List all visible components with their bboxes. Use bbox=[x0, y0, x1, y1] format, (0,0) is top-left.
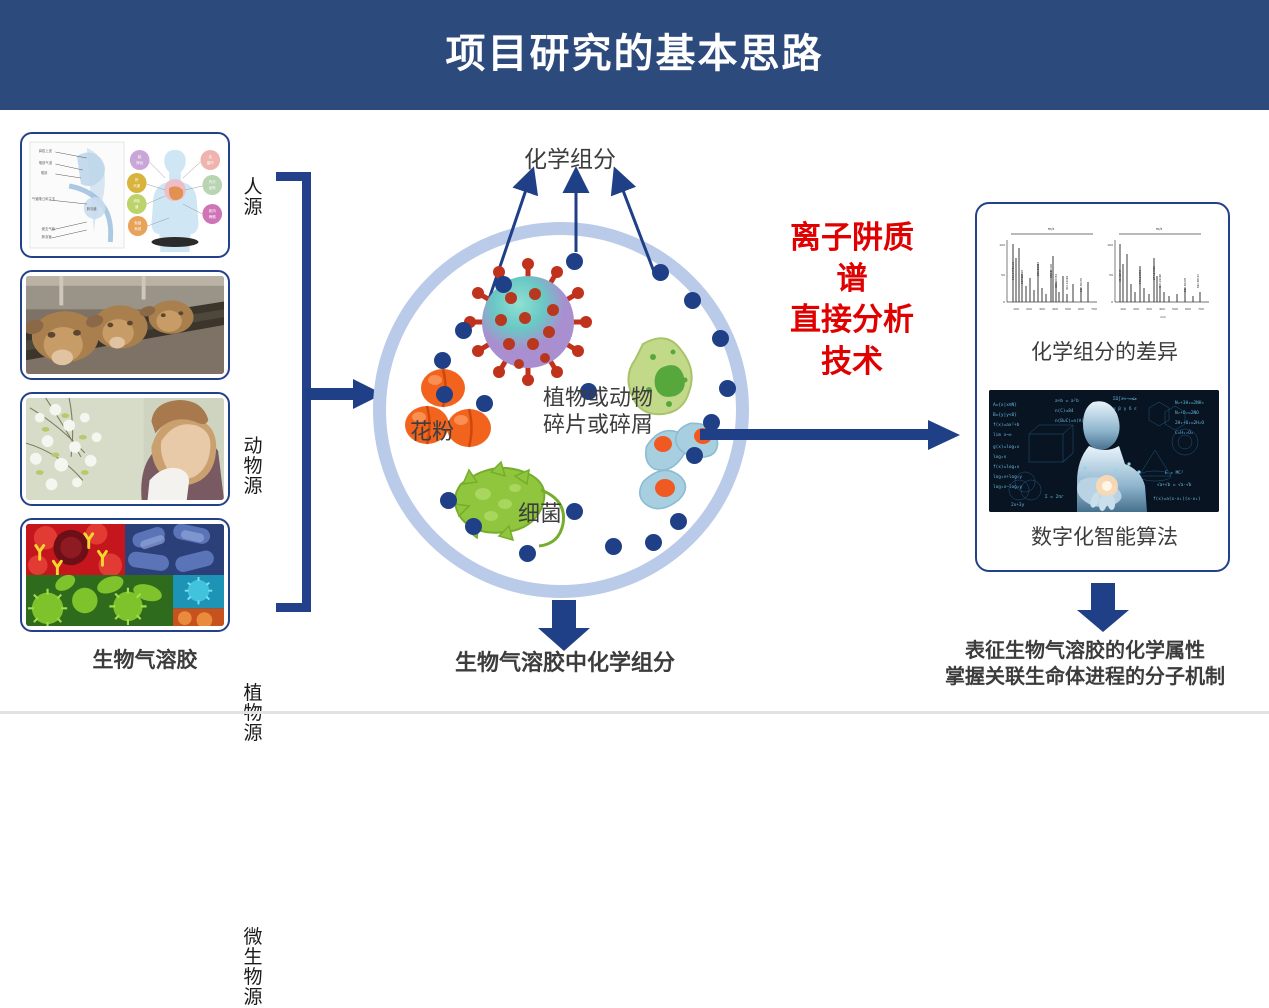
ai-illustration: A={x|x∈N}B={y|y<8} f(x)=ax²+blim x→∞ g(x… bbox=[989, 390, 1219, 512]
svg-text:f(x)=ax²+b: f(x)=ax²+b bbox=[993, 422, 1020, 428]
svg-text:255.23384: 255.23384 bbox=[1036, 262, 1040, 276]
chemical-dot bbox=[455, 322, 472, 339]
arrow-results-to-conclusion bbox=[1075, 583, 1131, 633]
svg-text:ΣΩ∫∂∞→≈≤≥: ΣΩ∫∂∞→≈≤≥ bbox=[1113, 396, 1137, 402]
human-body-anatomy-diagram: 鼻腔上皮咽部气道 喉部气管隆凸和主支 细支气管肺泡管 肺泡囊 bbox=[26, 138, 224, 252]
results-caption-spectra: 化学组分的差异 bbox=[977, 336, 1232, 366]
center-bottom-caption: 生物气溶胶中化学组分 bbox=[400, 645, 730, 677]
slide-canvas: 项目研究的基本思路 bbox=[0, 0, 1269, 714]
technique-line1: 离子阱质 bbox=[790, 220, 914, 256]
label-bacteria: 细菌 bbox=[500, 502, 580, 529]
svg-text:100: 100 bbox=[1107, 243, 1113, 247]
svg-text:B={y|y<8}: B={y|y<8} bbox=[993, 412, 1017, 418]
label-pollen: 花粉 bbox=[392, 420, 472, 447]
svg-text:98.02847: 98.02847 bbox=[1118, 269, 1122, 282]
technique-line3: 直接分析 bbox=[790, 302, 914, 338]
svg-text:lim x→∞: lim x→∞ bbox=[993, 432, 1012, 438]
chemical-dot bbox=[652, 264, 669, 281]
svg-text:700: 700 bbox=[1091, 307, 1097, 311]
results-caption-ai: 数字化智能算法 bbox=[977, 521, 1232, 551]
svg-text:50: 50 bbox=[1109, 273, 1113, 277]
svg-text:2H₂+O₂=2H₂O: 2H₂+O₂=2H₂O bbox=[1175, 420, 1204, 426]
svg-text:0: 0 bbox=[1003, 300, 1005, 304]
page-title: 项目研究的基本思路 bbox=[0, 21, 1269, 79]
svg-text:血: 血 bbox=[209, 154, 213, 159]
svg-text:175.14346: 175.14346 bbox=[1138, 270, 1142, 284]
arrow-circle-to-results bbox=[700, 418, 962, 452]
svg-text:log₂x+log₂y: log₂x+log₂y bbox=[993, 474, 1022, 480]
svg-text:√a+√b = √a·√b: √a+√b = √a·√b bbox=[1157, 482, 1192, 488]
svg-text:骨骼: 骨骼 bbox=[209, 214, 216, 219]
svg-text:2x+3y: 2x+3y bbox=[1011, 502, 1025, 508]
svg-text:n(B∪C)=n(A): n(B∪C)=n(A) bbox=[1055, 418, 1084, 424]
svg-text:g(x)=log₂x: g(x)=log₂x bbox=[993, 444, 1020, 450]
svg-text:鼻腔上皮: 鼻腔上皮 bbox=[39, 148, 53, 153]
bracket-bottom-arm bbox=[276, 603, 308, 612]
svg-text:197.12928: 197.12928 bbox=[1020, 270, 1024, 284]
chemical-dot bbox=[712, 330, 729, 347]
svg-text:0: 0 bbox=[1111, 300, 1113, 304]
cattle-in-barn-photo bbox=[26, 276, 224, 374]
chemical-dot bbox=[719, 380, 736, 397]
svg-text:免疫: 免疫 bbox=[134, 220, 141, 225]
label-debris-line2: 碎片或碎屑 bbox=[543, 413, 653, 438]
svg-text:f(x)=a(x-x₁)(x-x₂): f(x)=a(x-x₁)(x-x₂) bbox=[1153, 496, 1201, 502]
svg-text:α β γ δ ε: α β γ δ ε bbox=[1113, 406, 1137, 412]
svg-text:n(C)=84: n(C)=84 bbox=[1055, 408, 1074, 414]
svg-text:咽部气道: 咽部气道 bbox=[39, 160, 53, 165]
bioaerosol-caption: 生物气溶胶 bbox=[20, 644, 270, 674]
svg-text:细支气管: 细支气管 bbox=[42, 226, 56, 231]
chemical-dot bbox=[476, 395, 493, 412]
svg-text:Σ = 2πr: Σ = 2πr bbox=[1045, 494, 1064, 500]
source-card-human[interactable]: 鼻腔上皮咽部气道 喉部气管隆凸和主支 细支气管肺泡管 肺泡囊 bbox=[20, 132, 230, 258]
svg-text:肺泡囊: 肺泡囊 bbox=[87, 206, 98, 211]
technique-label: 离子阱质 谱 直接分析 技术 bbox=[757, 218, 947, 383]
chemical-dot bbox=[440, 492, 457, 509]
conclusion-line1: 表征生物气溶胶的化学属性 bbox=[965, 638, 1205, 662]
svg-text:肌肉: 肌肉 bbox=[209, 208, 216, 213]
microbe-collage-photo bbox=[26, 524, 224, 626]
svg-text:f(x)=log₂x: f(x)=log₂x bbox=[993, 464, 1020, 470]
anatomy-illustration: 鼻腔上皮咽部气道 喉部气管隆凸和主支 细支气管肺泡管 肺泡囊 bbox=[26, 138, 224, 252]
svg-text:302.30406: 302.30406 bbox=[1049, 264, 1053, 278]
svg-text:N₂+O₂=2NO: N₂+O₂=2NO bbox=[1175, 410, 1199, 416]
svg-text:a+b = a²b: a+b = a²b bbox=[1055, 398, 1079, 404]
allergy-illustration bbox=[26, 398, 224, 500]
svg-text:200: 200 bbox=[1026, 307, 1032, 311]
mass-spectra-svg: m/z 101.07751.06 bbox=[989, 218, 1219, 328]
svg-text:500: 500 bbox=[1172, 307, 1178, 311]
microbe-collage-illustration bbox=[26, 524, 224, 626]
source-label-animal: 动物源 bbox=[240, 437, 266, 497]
svg-text:318.29096: 318.29096 bbox=[1158, 274, 1162, 288]
svg-text:600: 600 bbox=[1078, 307, 1084, 311]
svg-text:泌系: 泌系 bbox=[209, 185, 216, 190]
svg-text:300: 300 bbox=[1039, 307, 1045, 311]
source-card-microbe[interactable]: 微生物源 bbox=[20, 518, 230, 632]
svg-text:274.27366: 274.27366 bbox=[1152, 266, 1156, 280]
svg-text:50: 50 bbox=[1001, 273, 1005, 277]
svg-text:700: 700 bbox=[1198, 307, 1204, 311]
svg-text:100: 100 bbox=[999, 243, 1005, 247]
chemical-dot bbox=[495, 276, 512, 293]
svg-text:333.26063: 333.26063 bbox=[1054, 274, 1058, 288]
arrow-right-long-icon bbox=[700, 418, 962, 452]
svg-text:m/z: m/z bbox=[1160, 315, 1166, 319]
svg-text:600: 600 bbox=[1185, 307, 1191, 311]
conclusion-caption: 表征生物气溶胶的化学属性 掌握关联生命体进程的分子机制 bbox=[905, 637, 1265, 689]
svg-text:循环: 循环 bbox=[207, 160, 214, 165]
ai-algorithm-image: A={x|x∈N}B={y|y<8} f(x)=ax²+blim x→∞ g(x… bbox=[989, 390, 1219, 512]
chemical-dot bbox=[645, 534, 662, 551]
svg-text:101.07751.06: 101.07751.06 bbox=[1011, 261, 1015, 280]
virus-icon bbox=[464, 258, 592, 386]
svg-text:代谢: 代谢 bbox=[133, 183, 140, 188]
svg-text:508.36076: 508.36076 bbox=[1079, 278, 1083, 292]
chemical-dot bbox=[436, 386, 453, 403]
svg-text:500: 500 bbox=[1065, 307, 1071, 311]
chemical-dot bbox=[566, 253, 583, 270]
svg-text:400: 400 bbox=[1052, 307, 1058, 311]
chemical-dot bbox=[605, 538, 622, 555]
mass-spectra-chart: m/z 101.07751.06 bbox=[989, 218, 1219, 328]
conclusion-line2: 掌握关联生命体进程的分子机制 bbox=[945, 664, 1225, 688]
arrow-down-icon bbox=[1075, 583, 1131, 633]
svg-text:气管隆凸和主支: 气管隆凸和主支 bbox=[32, 196, 56, 201]
source-label-human: 人源 bbox=[240, 178, 266, 218]
pollen-allergy-woman-sneezing-photo bbox=[26, 398, 224, 500]
chemical-dot bbox=[465, 518, 482, 535]
svg-text:神经: 神经 bbox=[136, 160, 143, 165]
svg-text:C₆H₁₂O₆: C₆H₁₂O₆ bbox=[1175, 430, 1194, 436]
svg-text:喉部: 喉部 bbox=[41, 170, 48, 175]
svg-text:200: 200 bbox=[1133, 307, 1139, 311]
svg-text:A={x|x∈N}: A={x|x∈N} bbox=[993, 402, 1017, 408]
svg-text:肺泡管: 肺泡管 bbox=[42, 234, 53, 239]
svg-text:100: 100 bbox=[1013, 307, 1019, 311]
svg-text:log₂x−log₂y: log₂x−log₂y bbox=[993, 484, 1022, 490]
svg-text:m/z: m/z bbox=[1048, 227, 1055, 231]
svg-text:系统: 系统 bbox=[134, 226, 141, 231]
label-debris-line1: 植物或动物 bbox=[543, 386, 653, 411]
source-card-plant[interactable]: 植物源 bbox=[20, 392, 230, 506]
svg-text:m/z: m/z bbox=[1156, 227, 1163, 231]
svg-text:E = MC²: E = MC² bbox=[1165, 470, 1184, 476]
cattle-illustration bbox=[26, 276, 224, 374]
svg-text:513.36208: 513.36208 bbox=[1183, 278, 1187, 292]
svg-text:402.14099: 402.14099 bbox=[1065, 276, 1069, 290]
svg-text:N₂+3H₂=2NH₃: N₂+3H₂=2NH₃ bbox=[1175, 400, 1204, 406]
results-panel: m/z 101.07751.06 bbox=[975, 202, 1230, 572]
svg-text:100: 100 bbox=[1120, 307, 1126, 311]
chemical-dot bbox=[519, 545, 536, 562]
chemical-dot bbox=[684, 292, 701, 309]
svg-text:内分: 内分 bbox=[209, 179, 216, 184]
svg-text:脑: 脑 bbox=[138, 154, 142, 159]
svg-text:690.68110: 690.68110 bbox=[1196, 274, 1200, 288]
svg-text:肝: 肝 bbox=[135, 177, 139, 182]
chemical-dot bbox=[434, 352, 451, 369]
source-card-animal[interactable]: 动物源 bbox=[20, 270, 230, 380]
slide-header: 项目研究的基本思路 bbox=[0, 0, 1269, 110]
svg-text:消化: 消化 bbox=[133, 198, 140, 203]
label-debris: 植物或动物 碎片或碎屑 bbox=[528, 386, 668, 440]
svg-text:log₂x: log₂x bbox=[993, 454, 1007, 460]
chemical-dot bbox=[670, 513, 687, 530]
technique-line4: 技术 bbox=[821, 344, 883, 380]
chemical-component-label: 化学组分 bbox=[470, 140, 670, 174]
svg-text:400: 400 bbox=[1159, 307, 1165, 311]
svg-text:道: 道 bbox=[135, 204, 139, 209]
technique-line2: 谱 bbox=[837, 261, 868, 297]
svg-text:300: 300 bbox=[1146, 307, 1152, 311]
source-label-microbe: 微生物源 bbox=[240, 928, 266, 1008]
